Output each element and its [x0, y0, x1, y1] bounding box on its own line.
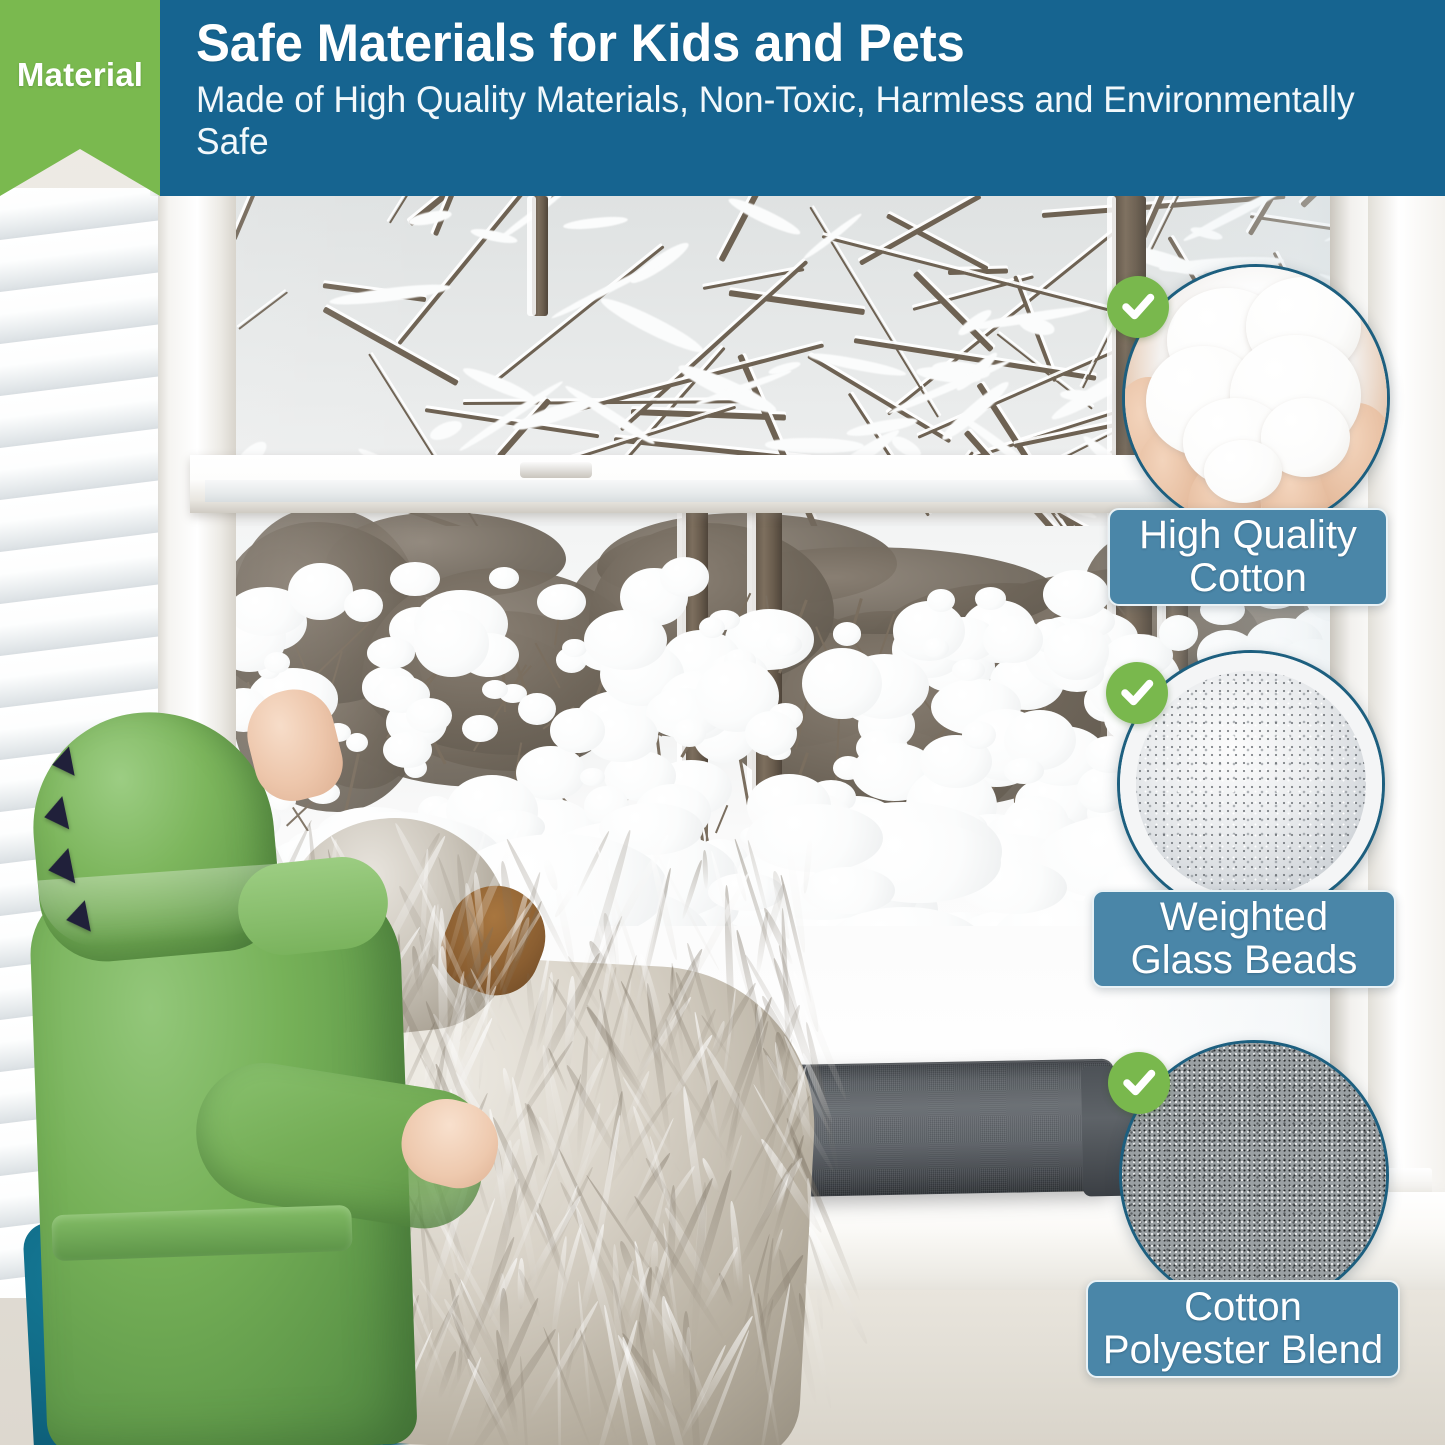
header-banner-text: Safe Materials for Kids and Pets Made of…	[196, 16, 1417, 162]
header-banner: Safe Materials for Kids and Pets Made of…	[158, 0, 1445, 196]
infographic-canvas: Safe Materials for Kids and Pets Made of…	[0, 0, 1445, 1445]
check-icon	[1107, 276, 1169, 338]
check-icon	[1106, 662, 1168, 724]
page-subtitle: Made of High Quality Materials, Non-Toxi…	[196, 79, 1362, 162]
badge-label-beads: Weighted Glass Beads	[1092, 890, 1396, 988]
page-title: Safe Materials for Kids and Pets	[196, 16, 1368, 72]
child-in-dinosaur-robe	[10, 690, 480, 1445]
material-ribbon-label: Material	[0, 0, 160, 150]
badge-label-cotton: High Quality Cotton	[1108, 508, 1388, 606]
check-icon	[1108, 1052, 1170, 1114]
badge-label-knit: Cotton Polyester Blend	[1086, 1280, 1400, 1378]
window-sash-lock	[520, 462, 592, 478]
